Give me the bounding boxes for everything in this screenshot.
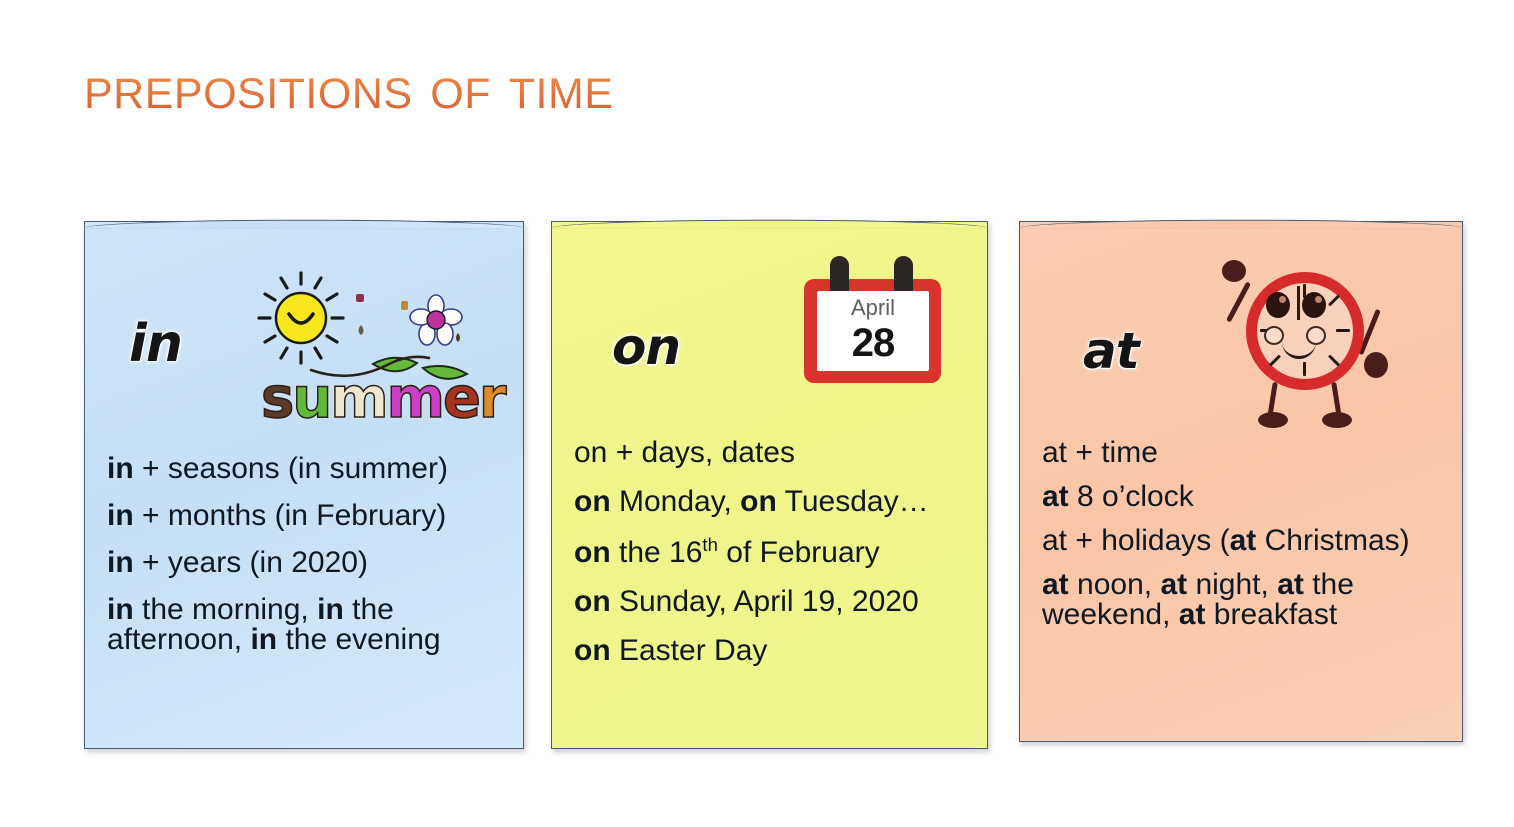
page-title: Prepositions of time <box>84 52 613 123</box>
sun-icon <box>259 273 343 363</box>
preposition-highlight: on <box>574 536 611 569</box>
clock-hand-left <box>1222 260 1246 282</box>
card-preposition-on: on April 28 on + days, dateson Monday, o… <box>551 221 988 749</box>
preposition-label-on: on <box>612 318 680 376</box>
card-at-header: at <box>1020 222 1462 444</box>
preposition-highlight: on <box>740 485 777 518</box>
preposition-highlight: on <box>574 634 611 667</box>
preposition-highlight: on <box>574 585 611 618</box>
clock-eye-right <box>1302 292 1326 318</box>
preposition-highlight: in <box>107 546 134 579</box>
rule-text: the evening <box>277 623 440 656</box>
clock-eye-left <box>1266 292 1290 318</box>
rule-line: at 8 o’clock <box>1042 482 1466 512</box>
preposition-highlight: at <box>1230 524 1257 557</box>
clock-cheek-left <box>1264 326 1284 345</box>
clock-tick-3 <box>1336 329 1350 332</box>
summer-letter: r <box>479 366 505 431</box>
preposition-highlight: at <box>1042 480 1069 513</box>
rule-text: th <box>702 534 718 555</box>
summer-letter: s <box>261 366 292 431</box>
rule-text: at + time <box>1042 436 1158 469</box>
preposition-highlight: in <box>317 593 344 626</box>
clock-foot-right <box>1322 412 1352 428</box>
rule-line: at + holidays (at Christmas) <box>1042 526 1466 556</box>
rule-text: of February <box>718 536 880 569</box>
calendar-month: April <box>817 291 929 322</box>
summer-letter: m <box>387 366 443 431</box>
summer-letter: m <box>330 366 386 431</box>
clock-hand-right <box>1364 352 1388 378</box>
clock-character-icon <box>1210 246 1400 436</box>
rules-list-on: on + days, dateson Monday, on Tuesday…on… <box>574 438 974 685</box>
summer-letter: e <box>443 366 479 431</box>
preposition-highlight: at <box>1277 568 1304 601</box>
rule-line: at noon, at night, at the weekend, at br… <box>1042 570 1466 630</box>
rule-line: in the morning, in the afternoon, in the… <box>107 595 517 655</box>
rule-line: at + time <box>1042 438 1466 468</box>
rule-text: Monday, <box>611 485 741 518</box>
clock-tick-6 <box>1303 362 1306 376</box>
rule-text: + seasons (in summer) <box>134 452 448 485</box>
rule-text: Christmas) <box>1256 524 1409 557</box>
preposition-highlight: in <box>107 593 134 626</box>
preposition-highlight: at <box>1042 568 1069 601</box>
summer-clipart: summer <box>253 270 478 425</box>
card-preposition-at: at at + <box>1019 221 1463 742</box>
clock-pointer <box>1297 286 1300 320</box>
preposition-highlight: at <box>1179 598 1206 631</box>
rule-text: breakfast <box>1205 598 1337 631</box>
preposition-highlight: in <box>107 452 134 485</box>
rule-text: on + days, dates <box>574 436 795 469</box>
rule-text: night, <box>1187 568 1277 601</box>
rule-line: on + days, dates <box>574 438 974 468</box>
rule-text: Sunday, April 19, 2020 <box>611 585 919 618</box>
calendar-day: 28 <box>817 322 929 364</box>
rule-text: Easter Day <box>611 634 768 667</box>
rule-line: in + years (in 2020) <box>107 548 517 578</box>
preposition-label-at: at <box>1083 322 1139 380</box>
rule-text: Tuesday… <box>777 485 929 518</box>
rule-text: the 16 <box>611 536 703 569</box>
rule-text: 8 o’clock <box>1069 480 1194 513</box>
rule-line: on Monday, on Tuesday… <box>574 487 974 517</box>
card-preposition-in: in <box>84 221 524 749</box>
calendar-icon: April 28 <box>804 256 944 386</box>
rule-text: at + holidays ( <box>1042 524 1230 557</box>
summer-letter: u <box>292 366 330 431</box>
preposition-label-in: in <box>129 314 182 374</box>
rule-line: on the 16th of February <box>574 536 974 568</box>
preposition-highlight: in <box>250 623 277 656</box>
rule-text: + years (in 2020) <box>134 546 368 579</box>
rule-line: on Easter Day <box>574 636 974 666</box>
summer-word: summer <box>261 366 505 431</box>
flower-icon <box>410 295 462 345</box>
rule-line: on Sunday, April 19, 2020 <box>574 587 974 617</box>
preposition-highlight: at <box>1160 568 1187 601</box>
card-on-header: on April 28 <box>552 222 987 444</box>
preposition-highlight: on <box>574 485 611 518</box>
clock-foot-left <box>1258 412 1288 428</box>
rule-text: noon, <box>1069 568 1161 601</box>
calendar-page: April 28 <box>817 291 929 371</box>
rule-line: in + seasons (in summer) <box>107 454 517 484</box>
rules-list-at: at + timeat 8 o’clockat + holidays (at C… <box>1042 438 1466 644</box>
rule-text: the morning, <box>134 593 317 626</box>
preposition-highlight: in <box>107 499 134 532</box>
rules-list-in: in + seasons (in summer)in + months (in … <box>107 454 517 672</box>
rule-line: in + months (in February) <box>107 501 517 531</box>
rule-text: + months (in February) <box>134 499 447 532</box>
card-in-header: in <box>85 222 523 444</box>
